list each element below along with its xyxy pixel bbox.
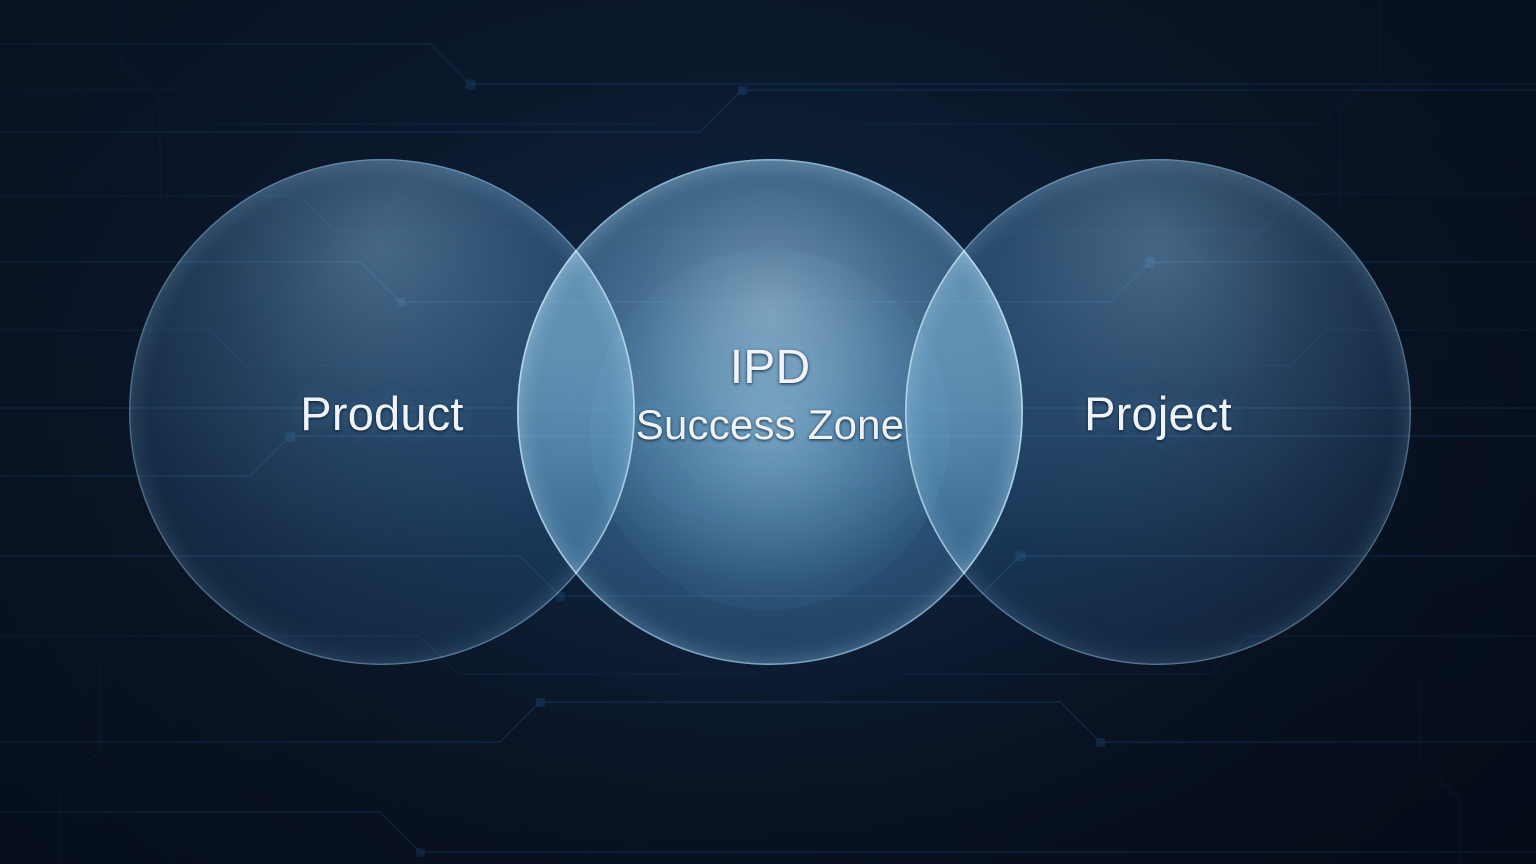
- venn-diagram-canvas: Product IPD Success Zone Project: [0, 0, 1536, 864]
- circle-label-project: Project: [905, 386, 1411, 441]
